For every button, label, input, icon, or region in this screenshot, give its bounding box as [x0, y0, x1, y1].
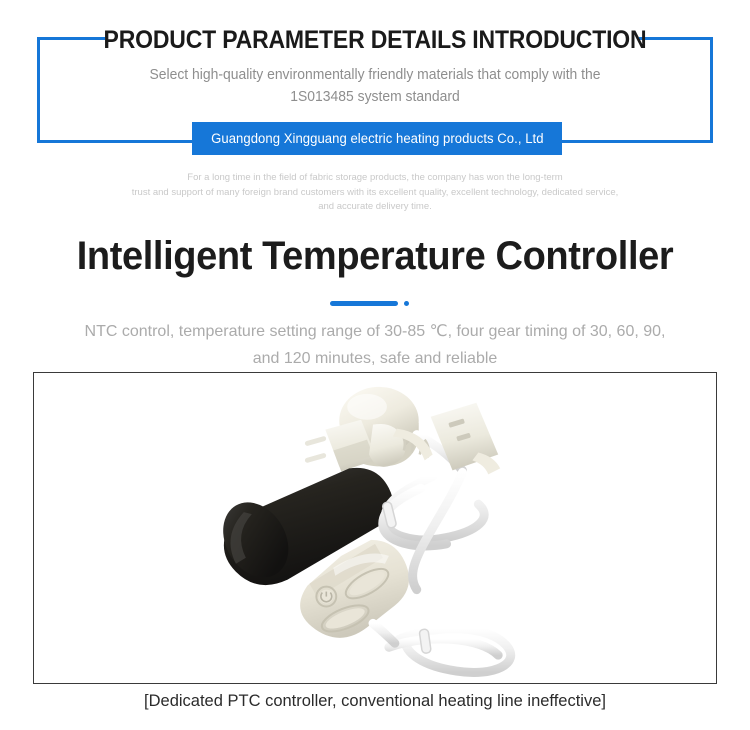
header-subtitle: Select high-quality environmentally frie…: [121, 64, 630, 108]
section-divider: [330, 300, 412, 307]
company-blurb-line-1: For a long time in the field of fabric s…: [75, 171, 675, 186]
product-description: NTC control, temperature setting range o…: [45, 318, 705, 372]
company-blurb-line-2: trust and support of many foreign brand …: [75, 186, 675, 201]
company-name-label: Guangdong Xingguang electric heating pro…: [211, 131, 543, 146]
product-description-line-1: NTC control, temperature setting range o…: [45, 318, 705, 345]
company-blurb-line-3: and accurate delivery time.: [75, 200, 675, 215]
product-photo: [34, 373, 716, 683]
product-image-caption: [Dedicated PTC controller, conventional …: [0, 692, 750, 711]
divider-dot: [404, 301, 409, 306]
product-description-line-2: and 120 minutes, safe and reliable: [45, 345, 705, 372]
product-image-frame: [33, 372, 717, 684]
header-subtitle-line-2: 1S013485 system standard: [121, 86, 630, 108]
header-subtitle-line-1: Select high-quality environmentally frie…: [121, 64, 630, 86]
company-blurb: For a long time in the field of fabric s…: [75, 171, 675, 215]
product-title: Intelligent Temperature Controller: [19, 234, 732, 279]
company-name-banner: Guangdong Xingguang electric heating pro…: [192, 122, 562, 155]
page-title: PRODUCT PARAMETER DETAILS INTRODUCTION: [30, 26, 720, 55]
divider-bar: [330, 301, 398, 306]
